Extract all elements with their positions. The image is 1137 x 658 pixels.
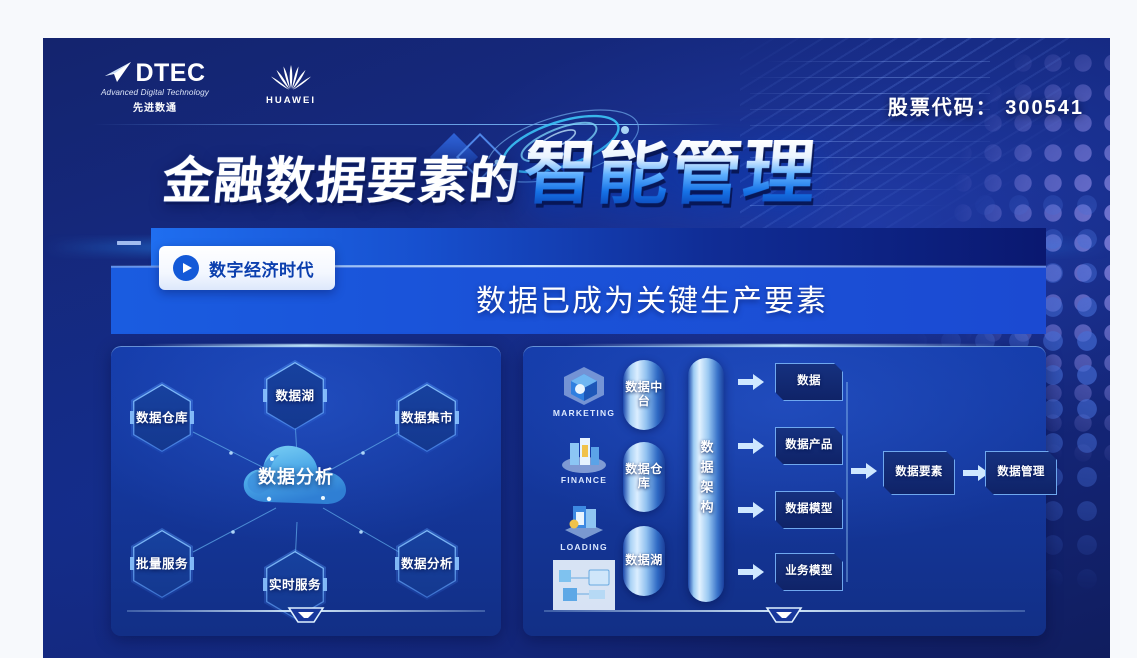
hex-node[interactable]: 数据湖 (264, 360, 326, 432)
arrow-right-icon (851, 463, 877, 479)
store-cylinder[interactable]: 数据中台 (623, 360, 665, 430)
huawei-flower-icon (268, 62, 314, 92)
source-label: FINANCE (544, 475, 624, 485)
hex-node-label: 数据仓库 (136, 411, 188, 426)
dtec-chinese-name: 先进数通 (91, 99, 219, 114)
output-box-label: 数据 (797, 375, 821, 389)
hex-node-label: 数据湖 (275, 389, 314, 404)
building-finance-icon[interactable] (559, 431, 609, 475)
cube-marketing-icon[interactable] (559, 364, 609, 408)
panel-bottom-rail (127, 604, 486, 626)
arrow-right-icon (738, 374, 764, 390)
chevron-down-icon[interactable] (761, 604, 807, 626)
output-box[interactable]: 业务模型 (775, 553, 843, 591)
source-label: MARKETING (544, 408, 624, 418)
hex-node-label: 批量服务 (136, 557, 188, 572)
flow-box-label: 数据管理 (997, 466, 1045, 480)
arrow-right-icon (738, 502, 764, 518)
arrow-right-icon (738, 438, 764, 454)
left-diagram-panel: 数据仓库 数据湖 数据集市 批量服务 实时服务 (111, 346, 501, 636)
right-diagram-panel: MARKETING FINANCE LOADING (523, 346, 1046, 636)
banner-headline: 数据已成为关键生产要素 (476, 276, 828, 320)
output-box-label: 业务模型 (785, 565, 833, 579)
page-title: 金融数据要素的 智能管理 (163, 140, 816, 206)
logo-group: DTEC Advanced Digital Technology 先进数通 HU… (91, 60, 327, 114)
store-label: 数据中台 (623, 381, 665, 409)
title-emphasis: 智能管理 (521, 140, 819, 206)
hex-node-label: 数据分析 (401, 557, 453, 572)
cloud-center-label: 数据分析 (258, 468, 334, 488)
store-label: 数据湖 (625, 554, 663, 568)
dtec-tagline: Advanced Digital Technology (91, 88, 219, 97)
collector-bracket (845, 382, 875, 582)
architecture-pillar[interactable]: 数据架构 (688, 358, 724, 602)
arrow-right-icon (738, 564, 764, 580)
hex-node[interactable]: 批量服务 (131, 528, 193, 600)
title-prefix: 金融数据要素的 (161, 156, 522, 206)
flow-box[interactable]: 数据要素 (883, 451, 955, 495)
cloud-center-node[interactable]: 数据分析 (238, 436, 354, 514)
output-box-label: 数据模型 (785, 503, 833, 517)
panel-bottom-rail (544, 604, 1025, 626)
flow-box-label: 数据要素 (895, 466, 943, 480)
huawei-wordmark: HUAWEI (255, 95, 327, 106)
flow-box[interactable]: 数据管理 (985, 451, 1057, 495)
dtec-arrow-icon (104, 60, 134, 86)
hex-node[interactable]: 数据分析 (396, 528, 458, 600)
huawei-logo: HUAWEI (255, 60, 327, 106)
play-icon[interactable] (173, 255, 199, 281)
store-label: 数据仓库 (623, 463, 665, 491)
server-loading-icon[interactable] (559, 498, 609, 542)
dtec-wordmark: DTEC (135, 61, 205, 86)
dtec-logo: DTEC Advanced Digital Technology 先进数通 (91, 60, 219, 114)
source-label: LOADING (544, 542, 624, 552)
network-devices-icon[interactable] (553, 560, 615, 610)
architecture-pillar-label: 数据架构 (700, 440, 713, 520)
stock-code: 股票代码： 300541 (888, 91, 1084, 120)
hex-node-label: 实时服务 (269, 578, 321, 593)
hex-node[interactable]: 数据集市 (396, 382, 458, 454)
section-badge-label: 数字经济时代 (209, 256, 314, 281)
output-box[interactable]: 数据模型 (775, 491, 843, 529)
subtitle-banner: 数字经济时代 数据已成为关键生产要素 (111, 228, 1046, 338)
hex-network: 数据仓库 数据湖 数据集市 批量服务 实时服务 (111, 346, 501, 636)
hex-node[interactable]: 数据仓库 (131, 382, 193, 454)
store-cylinder[interactable]: 数据湖 (623, 526, 665, 596)
output-box[interactable]: 数据产品 (775, 427, 843, 465)
output-box-label: 数据产品 (785, 439, 833, 453)
slide-canvas: DTEC Advanced Digital Technology 先进数通 HU… (43, 38, 1110, 658)
dtec-logomark: DTEC (91, 60, 219, 86)
store-cylinder[interactable]: 数据仓库 (623, 442, 665, 512)
chevron-down-icon[interactable] (283, 604, 329, 626)
section-badge[interactable]: 数字经济时代 (159, 246, 335, 290)
output-box[interactable]: 数据 (775, 363, 843, 401)
hex-node-label: 数据集市 (401, 411, 453, 426)
